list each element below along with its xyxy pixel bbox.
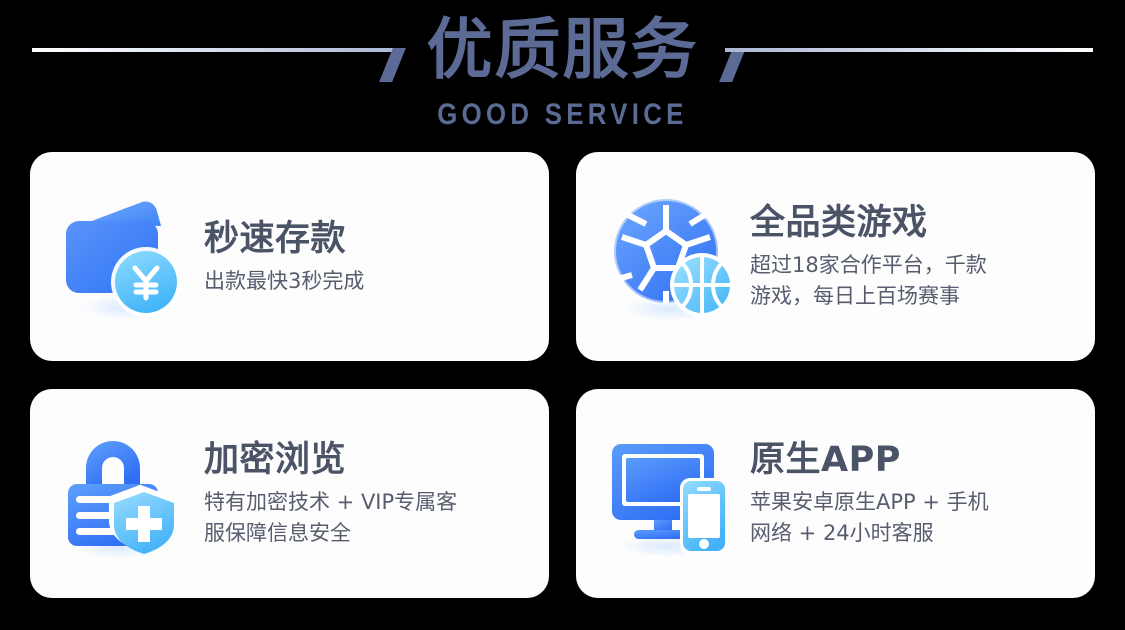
card-description: 特有加密技术 + VIP专属客 服保障信息安全 [204, 487, 531, 549]
card-description: 苹果安卓原生APP + 手机 网络 + 24小时客服 [750, 487, 1077, 549]
monitor-phone-icon [604, 428, 736, 560]
card-text-block: 全品类游戏 超过18家合作平台，千款 游戏，每日上百场赛事 [736, 201, 1077, 312]
page-title: 优质服务 [0, 8, 1125, 92]
card-desc-line: 特有加密技术 + VIP专属客 [204, 487, 531, 518]
feature-card-deposit[interactable]: 秒速存款 出款最快3秒完成 [30, 152, 549, 361]
card-text-block: 原生APP 苹果安卓原生APP + 手机 网络 + 24小时客服 [736, 438, 1077, 549]
page-header: 优质服务 GOOD SERVICE [0, 0, 1125, 148]
feature-card-native-app[interactable]: 原生APP 苹果安卓原生APP + 手机 网络 + 24小时客服 [576, 389, 1095, 598]
feature-card-grid: 秒速存款 出款最快3秒完成 [30, 152, 1095, 598]
card-desc-line: 网络 + 24小时客服 [750, 518, 1077, 549]
card-description: 超过18家合作平台，千款 游戏，每日上百场赛事 [750, 250, 1077, 312]
card-title: 秒速存款 [204, 217, 531, 261]
card-description: 出款最快3秒完成 [204, 266, 531, 297]
card-desc-line: 出款最快3秒完成 [204, 266, 531, 297]
lock-shield-icon [58, 428, 190, 560]
card-text-block: 秒速存款 出款最快3秒完成 [190, 217, 531, 297]
page-subtitle: GOOD SERVICE [79, 97, 1047, 133]
card-title: 原生APP [750, 438, 1077, 482]
card-title: 加密浏览 [204, 438, 531, 482]
feature-card-games[interactable]: 全品类游戏 超过18家合作平台，千款 游戏，每日上百场赛事 [576, 152, 1095, 361]
card-title: 全品类游戏 [750, 201, 1077, 245]
feature-card-encryption[interactable]: 加密浏览 特有加密技术 + VIP专属客 服保障信息安全 [30, 389, 549, 598]
card-text-block: 加密浏览 特有加密技术 + VIP专属客 服保障信息安全 [190, 438, 531, 549]
soccer-basketball-icon [604, 191, 736, 323]
card-desc-line: 苹果安卓原生APP + 手机 [750, 487, 1077, 518]
card-desc-line: 超过18家合作平台，千款 [750, 250, 1077, 281]
wallet-yen-icon [58, 191, 190, 323]
card-desc-line: 游戏，每日上百场赛事 [750, 281, 1077, 312]
card-desc-line: 服保障信息安全 [204, 518, 531, 549]
